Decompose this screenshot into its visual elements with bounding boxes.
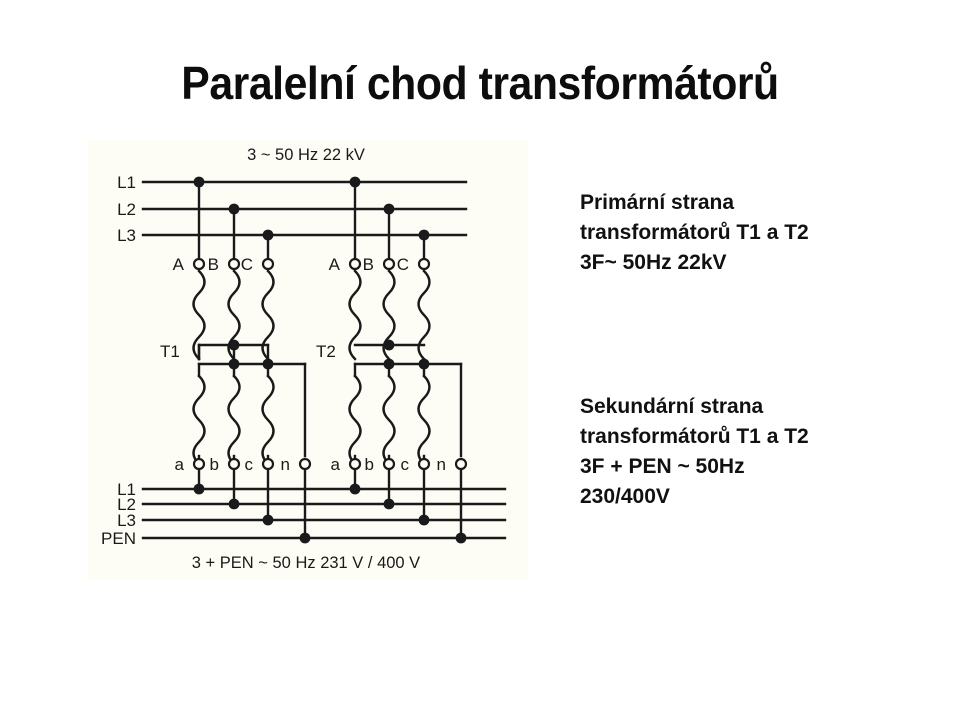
label-primary-L3: L3	[117, 226, 136, 245]
label-transformer-T2: T2	[316, 342, 336, 361]
junction-t2-L1	[350, 177, 361, 188]
junction-t1-primary-star	[229, 340, 240, 351]
junction-t2-n-PEN	[456, 533, 467, 544]
terminal-circle-t2-A	[350, 259, 360, 269]
terminal-circle-t1-B	[229, 259, 239, 269]
label-t2-terminal-B: B	[363, 255, 374, 274]
label-secondary-L3: L3	[117, 511, 136, 530]
label-primary-L2: L2	[117, 200, 136, 219]
label-t2-terminal-c: c	[401, 455, 410, 474]
top-caption: 3 ~ 50 Hz 22 kV	[247, 146, 365, 164]
junction-t1-n-PEN	[300, 533, 311, 544]
label-t2-terminal-C: C	[397, 255, 409, 274]
wiring-diagram-svg: 3 ~ 50 Hz 22 kV L1 L2 L3 A B C A B C T1 …	[88, 140, 528, 580]
terminal-circle-t1-c	[263, 459, 273, 469]
page-title: Paralelní chod transformátorů	[34, 56, 927, 110]
terminal-circle-t2-n	[456, 459, 466, 469]
junction-t1-L1	[194, 177, 205, 188]
label-t1-terminal-n: n	[281, 455, 290, 474]
label-t1-terminal-b: b	[210, 455, 219, 474]
wiring-diagram-figure: 3 ~ 50 Hz 22 kV L1 L2 L3 A B C A B C T1 …	[88, 140, 528, 580]
label-t1-terminal-B: B	[208, 255, 219, 274]
label-t1-terminal-c: c	[245, 455, 254, 474]
junction-t2-b-L2	[384, 499, 395, 510]
junction-t1-b-L2	[229, 499, 240, 510]
terminal-circle-t1-b	[229, 459, 239, 469]
junction-t2-a-L1	[350, 484, 361, 495]
terminal-circle-t2-c	[419, 459, 429, 469]
bottom-caption: 3 + PEN ~ 50 Hz 231 V / 400 V	[192, 554, 420, 572]
junction-t2-c-L3	[419, 515, 430, 526]
slide-canvas: Paralelní chod transformátorů	[0, 0, 960, 720]
junction-t2-primary-star	[384, 340, 395, 351]
terminal-circle-t2-b	[384, 459, 394, 469]
primary-side-description: Primární strana transformátorů T1 a T2 3…	[580, 188, 930, 278]
junction-t1-c-L3	[263, 515, 274, 526]
junction-t1-secondary-star-c	[263, 359, 274, 370]
secondary-side-description: Sekundární strana transformátorů T1 a T2…	[580, 392, 930, 512]
terminal-circle-t1-C	[263, 259, 273, 269]
junction-t2-secondary-star-c	[419, 359, 430, 370]
terminal-circle-t2-B	[384, 259, 394, 269]
junction-t2-L2	[384, 204, 395, 215]
terminal-circle-t2-a	[350, 459, 360, 469]
junction-t1-L2	[229, 204, 240, 215]
label-t1-terminal-a: a	[175, 455, 185, 474]
terminal-circle-t1-a	[194, 459, 204, 469]
label-t1-terminal-C: C	[241, 255, 253, 274]
junction-t2-secondary-star-b	[384, 359, 395, 370]
label-secondary-PEN: PEN	[101, 529, 136, 548]
label-t2-terminal-n: n	[437, 455, 446, 474]
terminal-circle-t1-A	[194, 259, 204, 269]
label-transformer-T1: T1	[160, 342, 180, 361]
junction-t2-L3	[419, 230, 430, 241]
label-primary-L1: L1	[117, 173, 136, 192]
label-t2-terminal-A: A	[329, 255, 341, 274]
label-t2-terminal-b: b	[365, 455, 374, 474]
label-t1-terminal-A: A	[173, 255, 185, 274]
junction-t1-a-L1	[194, 484, 205, 495]
label-t2-terminal-a: a	[331, 455, 341, 474]
junction-t1-secondary-star-b	[229, 359, 240, 370]
terminal-circle-t2-C	[419, 259, 429, 269]
junction-t1-L3	[263, 230, 274, 241]
terminal-circle-t1-n	[300, 459, 310, 469]
